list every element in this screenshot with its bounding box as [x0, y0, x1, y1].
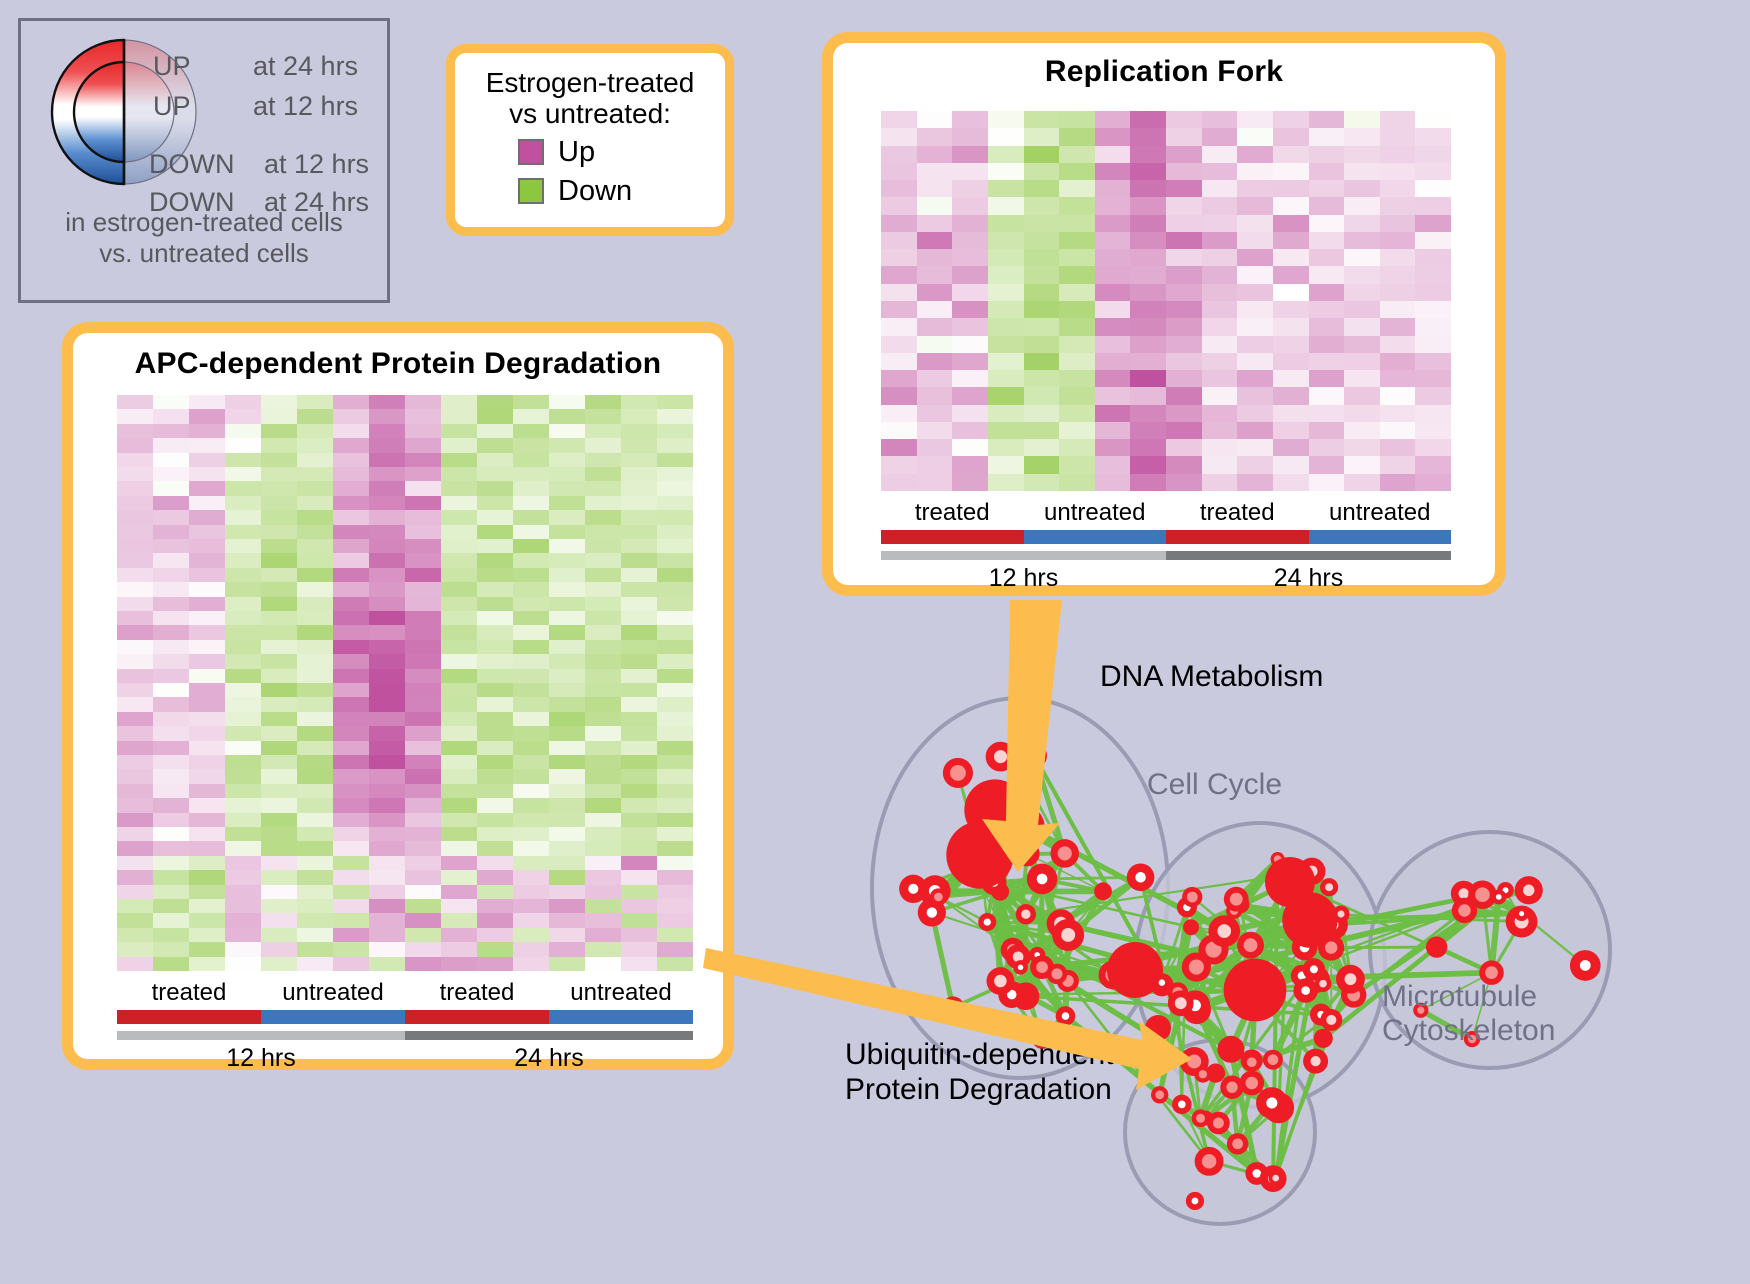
- heat-cell: [917, 336, 953, 353]
- heat-cell: [549, 654, 585, 668]
- heat-cell: [261, 467, 297, 481]
- heat-cell: [1024, 456, 1060, 473]
- heat-cell: [1380, 318, 1416, 335]
- heat-cell: [513, 755, 549, 769]
- heat-cell: [369, 841, 405, 855]
- time-bar-12hrs: [117, 1031, 405, 1040]
- heat-cell: [117, 395, 153, 409]
- group-labels-apc: treated untreated treated untreated: [117, 979, 693, 1007]
- heat-cell: [153, 697, 189, 711]
- heat-cell: [1415, 180, 1451, 197]
- heat-cell: [1166, 318, 1202, 335]
- network-svg: [790, 620, 1750, 1279]
- ub-line-1: Ubiquitin-dependent: [845, 1038, 1114, 1073]
- heat-cell: [1024, 301, 1060, 318]
- heat-cell: [621, 870, 657, 884]
- heat-cell: [1024, 336, 1060, 353]
- heat-cell: [1380, 180, 1416, 197]
- heat-cell: [261, 525, 297, 539]
- heat-cell: [189, 395, 225, 409]
- heat-cell: [881, 439, 917, 456]
- heat-cell: [261, 683, 297, 697]
- time-label-12hrs: 12 hrs: [881, 564, 1166, 593]
- network-node: [1153, 973, 1171, 991]
- heat-cell: [333, 611, 369, 625]
- heat-cell: [261, 510, 297, 524]
- time-labels-apc: 12 hrs 24 hrs: [117, 1044, 693, 1073]
- heat-cell: [369, 409, 405, 423]
- heat-cell: [1166, 249, 1202, 266]
- heat-cell: [225, 568, 261, 582]
- heat-cell: [1273, 180, 1309, 197]
- network-node: [1239, 1071, 1264, 1096]
- heat-cell: [405, 697, 441, 711]
- heat-cell: [297, 769, 333, 783]
- heat-cell: [441, 957, 477, 971]
- heat-cell: [153, 467, 189, 481]
- axis-apc-degradation: treated untreated treated untreated 12 h…: [117, 979, 693, 1073]
- panel-title-replication: Replication Fork: [833, 55, 1495, 89]
- heat-cell: [441, 654, 477, 668]
- heat-cell: [477, 741, 513, 755]
- heat-cell: [333, 798, 369, 812]
- network-node: [1514, 906, 1529, 921]
- heat-cell: [1095, 128, 1131, 145]
- network-node: [1013, 960, 1027, 974]
- heat-cell: [1273, 284, 1309, 301]
- mt-line-1: Microtubule: [1382, 980, 1555, 1014]
- heat-cell: [1024, 232, 1060, 249]
- heat-cell: [621, 798, 657, 812]
- heat-cell: [585, 957, 621, 971]
- heat-cell: [1166, 353, 1202, 370]
- heat-cell: [297, 539, 333, 553]
- heat-cell: [297, 913, 333, 927]
- heat-cell: [1059, 266, 1095, 283]
- heat-cell: [1130, 405, 1166, 422]
- heat-cell: [153, 409, 189, 423]
- heat-cell: [117, 697, 153, 711]
- heat-cell: [1059, 353, 1095, 370]
- heat-cell: [333, 885, 369, 899]
- heat-cell: [1273, 456, 1309, 473]
- heat-cell: [621, 496, 657, 510]
- heat-cell: [261, 654, 297, 668]
- heat-cell: [1202, 353, 1238, 370]
- heat-cell: [952, 128, 988, 145]
- heat-cell: [513, 683, 549, 697]
- heat-cell: [441, 712, 477, 726]
- heat-cell: [585, 769, 621, 783]
- heat-cell: [297, 870, 333, 884]
- network-node: [1182, 952, 1211, 981]
- heat-cell: [117, 424, 153, 438]
- heat-cell: [917, 405, 953, 422]
- heat-cell: [1273, 474, 1309, 491]
- heat-cell: [657, 424, 693, 438]
- heat-cell: [153, 654, 189, 668]
- heat-cell: [1166, 111, 1202, 128]
- heat-cell: [369, 525, 405, 539]
- heat-cell: [1095, 249, 1131, 266]
- heat-cell: [333, 525, 369, 539]
- heat-cell: [441, 453, 477, 467]
- color-key-box: UP at 24 hrs UP at 12 hrs DOWN at 12 hrs…: [18, 18, 390, 303]
- heat-cell: [1309, 197, 1345, 214]
- heat-cell: [225, 856, 261, 870]
- network-node: [1183, 919, 1199, 935]
- heat-cell: [405, 942, 441, 956]
- heat-cell: [1202, 439, 1238, 456]
- heat-cell: [621, 654, 657, 668]
- heat-cell: [405, 424, 441, 438]
- heat-cell: [441, 827, 477, 841]
- heat-cell: [1059, 146, 1095, 163]
- group-label-untreated-12: untreated: [261, 979, 405, 1007]
- heat-cell: [225, 539, 261, 553]
- heat-cell: [189, 712, 225, 726]
- group-label-treated-24: treated: [1166, 499, 1309, 527]
- time-bar-24hrs: [1166, 551, 1451, 560]
- heat-cell: [549, 697, 585, 711]
- heat-cell: [513, 726, 549, 740]
- heat-cell: [1095, 387, 1131, 404]
- network-node: [1282, 892, 1337, 947]
- heat-cell: [952, 284, 988, 301]
- heat-cell: [405, 784, 441, 798]
- key-time-down-12: at 12 hrs: [264, 149, 369, 180]
- heat-cell: [657, 856, 693, 870]
- heat-cell: [225, 741, 261, 755]
- heat-cell: [657, 496, 693, 510]
- heat-cell: [1095, 439, 1131, 456]
- heat-cell: [988, 266, 1024, 283]
- group-label-untreated-24: untreated: [1309, 499, 1452, 527]
- heat-cell: [1309, 456, 1345, 473]
- heat-cell: [477, 539, 513, 553]
- heat-cell: [477, 553, 513, 567]
- heat-cell: [549, 856, 585, 870]
- heat-cell: [261, 539, 297, 553]
- heat-cell: [189, 942, 225, 956]
- heat-cell: [369, 481, 405, 495]
- heat-cell: [477, 712, 513, 726]
- heatmap-replication-fork: [881, 111, 1451, 491]
- heat-cell: [1095, 111, 1131, 128]
- heat-cell: [549, 525, 585, 539]
- heat-cell: [405, 654, 441, 668]
- heat-cell: [405, 467, 441, 481]
- heat-cell: [952, 215, 988, 232]
- heat-cell: [441, 467, 477, 481]
- heat-cell: [441, 942, 477, 956]
- heat-cell: [549, 467, 585, 481]
- heat-cell: [549, 942, 585, 956]
- bar-treated-12: [881, 530, 1024, 544]
- heat-cell: [1130, 266, 1166, 283]
- legend-item-up: Up: [463, 136, 717, 169]
- heat-cell: [1415, 336, 1451, 353]
- heat-cell: [189, 913, 225, 927]
- heat-cell: [988, 301, 1024, 318]
- heat-cell: [189, 453, 225, 467]
- heat-cell: [621, 395, 657, 409]
- heat-cell: [585, 481, 621, 495]
- heat-cell: [225, 654, 261, 668]
- heat-cell: [117, 827, 153, 841]
- heat-cell: [917, 128, 953, 145]
- heat-cell: [657, 899, 693, 913]
- heat-cell: [261, 942, 297, 956]
- heat-cell: [333, 942, 369, 956]
- heat-cell: [189, 841, 225, 855]
- heat-cell: [1309, 111, 1345, 128]
- bar-untreated-12: [1024, 530, 1167, 544]
- heat-cell: [261, 409, 297, 423]
- heat-cell: [1380, 128, 1416, 145]
- heat-cell: [225, 885, 261, 899]
- heat-cell: [988, 249, 1024, 266]
- heat-cell: [441, 885, 477, 899]
- heat-cell: [189, 409, 225, 423]
- heat-cell: [621, 640, 657, 654]
- heat-cell: [441, 640, 477, 654]
- heat-cell: [369, 438, 405, 452]
- heat-cell: [881, 353, 917, 370]
- heat-cell: [477, 726, 513, 740]
- heat-cell: [1202, 163, 1238, 180]
- heat-cell: [189, 625, 225, 639]
- heat-cell: [369, 669, 405, 683]
- heat-cell: [657, 913, 693, 927]
- heat-cell: [333, 409, 369, 423]
- heat-cell: [225, 597, 261, 611]
- heat-cell: [1166, 336, 1202, 353]
- heat-cell: [261, 712, 297, 726]
- heat-cell: [189, 784, 225, 798]
- key-time-up-24: at 24 hrs: [253, 51, 358, 82]
- heat-cell: [621, 755, 657, 769]
- heat-cell: [297, 467, 333, 481]
- heat-cell: [117, 640, 153, 654]
- heat-cell: [621, 741, 657, 755]
- heat-cell: [153, 539, 189, 553]
- heat-cell: [621, 669, 657, 683]
- heat-cell: [117, 525, 153, 539]
- heat-cell: [881, 422, 917, 439]
- heat-cell: [189, 654, 225, 668]
- heat-cell: [405, 611, 441, 625]
- heat-cell: [657, 741, 693, 755]
- heat-cell: [333, 697, 369, 711]
- heat-cell: [153, 453, 189, 467]
- heat-cell: [297, 813, 333, 827]
- heat-cell: [225, 625, 261, 639]
- heat-cell: [153, 611, 189, 625]
- heat-cell: [189, 539, 225, 553]
- network-node: [1303, 958, 1325, 980]
- heat-cell: [1202, 336, 1238, 353]
- heat-cell: [917, 249, 953, 266]
- heat-cell: [585, 539, 621, 553]
- heat-cell: [117, 625, 153, 639]
- heat-cell: [333, 784, 369, 798]
- heat-cell: [261, 669, 297, 683]
- heat-cell: [1059, 387, 1095, 404]
- heat-cell: [1237, 163, 1273, 180]
- heat-cell: [297, 481, 333, 495]
- heat-cell: [189, 582, 225, 596]
- heat-cell: [117, 438, 153, 452]
- heat-cell: [1415, 215, 1451, 232]
- heat-cell: [513, 870, 549, 884]
- network-node: [1182, 887, 1202, 907]
- heat-cell: [917, 146, 953, 163]
- heat-cell: [1024, 163, 1060, 180]
- heat-cell: [297, 841, 333, 855]
- heat-cell: [657, 669, 693, 683]
- heat-cell: [333, 496, 369, 510]
- heat-cell: [261, 741, 297, 755]
- heat-cell: [369, 625, 405, 639]
- heat-cell: [261, 827, 297, 841]
- heat-cell: [405, 582, 441, 596]
- heat-cell: [261, 928, 297, 942]
- heat-cell: [657, 597, 693, 611]
- heat-cell: [1237, 284, 1273, 301]
- heat-cell: [369, 654, 405, 668]
- heat-cell: [657, 798, 693, 812]
- heat-cell: [513, 481, 549, 495]
- heat-cell: [225, 395, 261, 409]
- heat-cell: [369, 539, 405, 553]
- bar-treated-24: [1166, 530, 1309, 544]
- heat-cell: [261, 856, 297, 870]
- heat-cell: [988, 370, 1024, 387]
- heat-cell: [585, 899, 621, 913]
- heat-cell: [1130, 387, 1166, 404]
- heat-cell: [1130, 439, 1166, 456]
- heat-cell: [369, 784, 405, 798]
- heat-cell: [477, 395, 513, 409]
- network-node: [1127, 863, 1155, 891]
- heat-cell: [297, 669, 333, 683]
- heat-cell: [117, 553, 153, 567]
- heat-cell: [1415, 284, 1451, 301]
- heat-cell: [297, 798, 333, 812]
- heat-cell: [225, 525, 261, 539]
- heat-cell: [657, 568, 693, 582]
- heat-cell: [988, 232, 1024, 249]
- heat-cell: [477, 582, 513, 596]
- heat-cell: [225, 942, 261, 956]
- heat-cell: [369, 913, 405, 927]
- heat-cell: [881, 456, 917, 473]
- heat-cell: [585, 640, 621, 654]
- heat-cell: [153, 741, 189, 755]
- heat-cell: [441, 755, 477, 769]
- heat-cell: [297, 424, 333, 438]
- heat-cell: [657, 438, 693, 452]
- network-node: [1256, 1087, 1288, 1119]
- heat-cell: [1380, 163, 1416, 180]
- heat-cell: [1130, 111, 1166, 128]
- heat-cell: [621, 856, 657, 870]
- heat-cell: [477, 611, 513, 625]
- heat-cell: [549, 769, 585, 783]
- heat-cell: [1024, 180, 1060, 197]
- heat-cell: [477, 424, 513, 438]
- heat-cell: [225, 611, 261, 625]
- heat-cell: [917, 439, 953, 456]
- group-labels-replication: treated untreated treated untreated: [881, 499, 1451, 527]
- heat-cell: [1166, 456, 1202, 473]
- heat-cell: [153, 510, 189, 524]
- heat-cell: [549, 453, 585, 467]
- heat-cell: [621, 424, 657, 438]
- heat-cell: [1130, 422, 1166, 439]
- caption-line-2: vs. untreated cells: [21, 238, 387, 269]
- heat-cell: [189, 885, 225, 899]
- heat-cell: [441, 481, 477, 495]
- heat-cell: [117, 899, 153, 913]
- heat-cell: [1380, 456, 1416, 473]
- heat-cell: [153, 424, 189, 438]
- heat-cell: [513, 582, 549, 596]
- heat-cell: [405, 395, 441, 409]
- bar-untreated-12: [261, 1010, 405, 1024]
- heat-cell: [117, 712, 153, 726]
- color-key-caption: in estrogen-treated cells vs. untreated …: [21, 207, 387, 268]
- heat-cell: [1024, 370, 1060, 387]
- heat-cell: [549, 741, 585, 755]
- heat-cell: [333, 726, 369, 740]
- heat-cell: [1309, 422, 1345, 439]
- heat-cell: [153, 582, 189, 596]
- group-color-bars-replication: [881, 530, 1451, 544]
- heat-cell: [225, 827, 261, 841]
- heat-cell: [477, 769, 513, 783]
- heat-cell: [405, 597, 441, 611]
- heat-cell: [1380, 474, 1416, 491]
- heat-cell: [333, 928, 369, 942]
- heat-cell: [549, 784, 585, 798]
- heat-cell: [477, 913, 513, 927]
- heat-cell: [189, 928, 225, 942]
- heat-cell: [549, 409, 585, 423]
- heat-cell: [225, 712, 261, 726]
- heat-cell: [621, 611, 657, 625]
- heat-cell: [1024, 353, 1060, 370]
- heat-cell: [1059, 405, 1095, 422]
- mt-line-2: Cytoskeleton: [1382, 1014, 1555, 1048]
- heat-cell: [1344, 180, 1380, 197]
- heat-cell: [1344, 387, 1380, 404]
- heat-cell: [1059, 180, 1095, 197]
- network-node: [1217, 1036, 1244, 1063]
- heat-cell: [657, 453, 693, 467]
- heat-cell: [441, 625, 477, 639]
- heat-cell: [117, 683, 153, 697]
- heat-cell: [1344, 163, 1380, 180]
- heat-cell: [153, 899, 189, 913]
- heat-cell: [881, 180, 917, 197]
- heat-cell: [952, 370, 988, 387]
- heat-cell: [1202, 128, 1238, 145]
- heat-cell: [657, 755, 693, 769]
- heat-cell: [405, 683, 441, 697]
- heat-cell: [881, 336, 917, 353]
